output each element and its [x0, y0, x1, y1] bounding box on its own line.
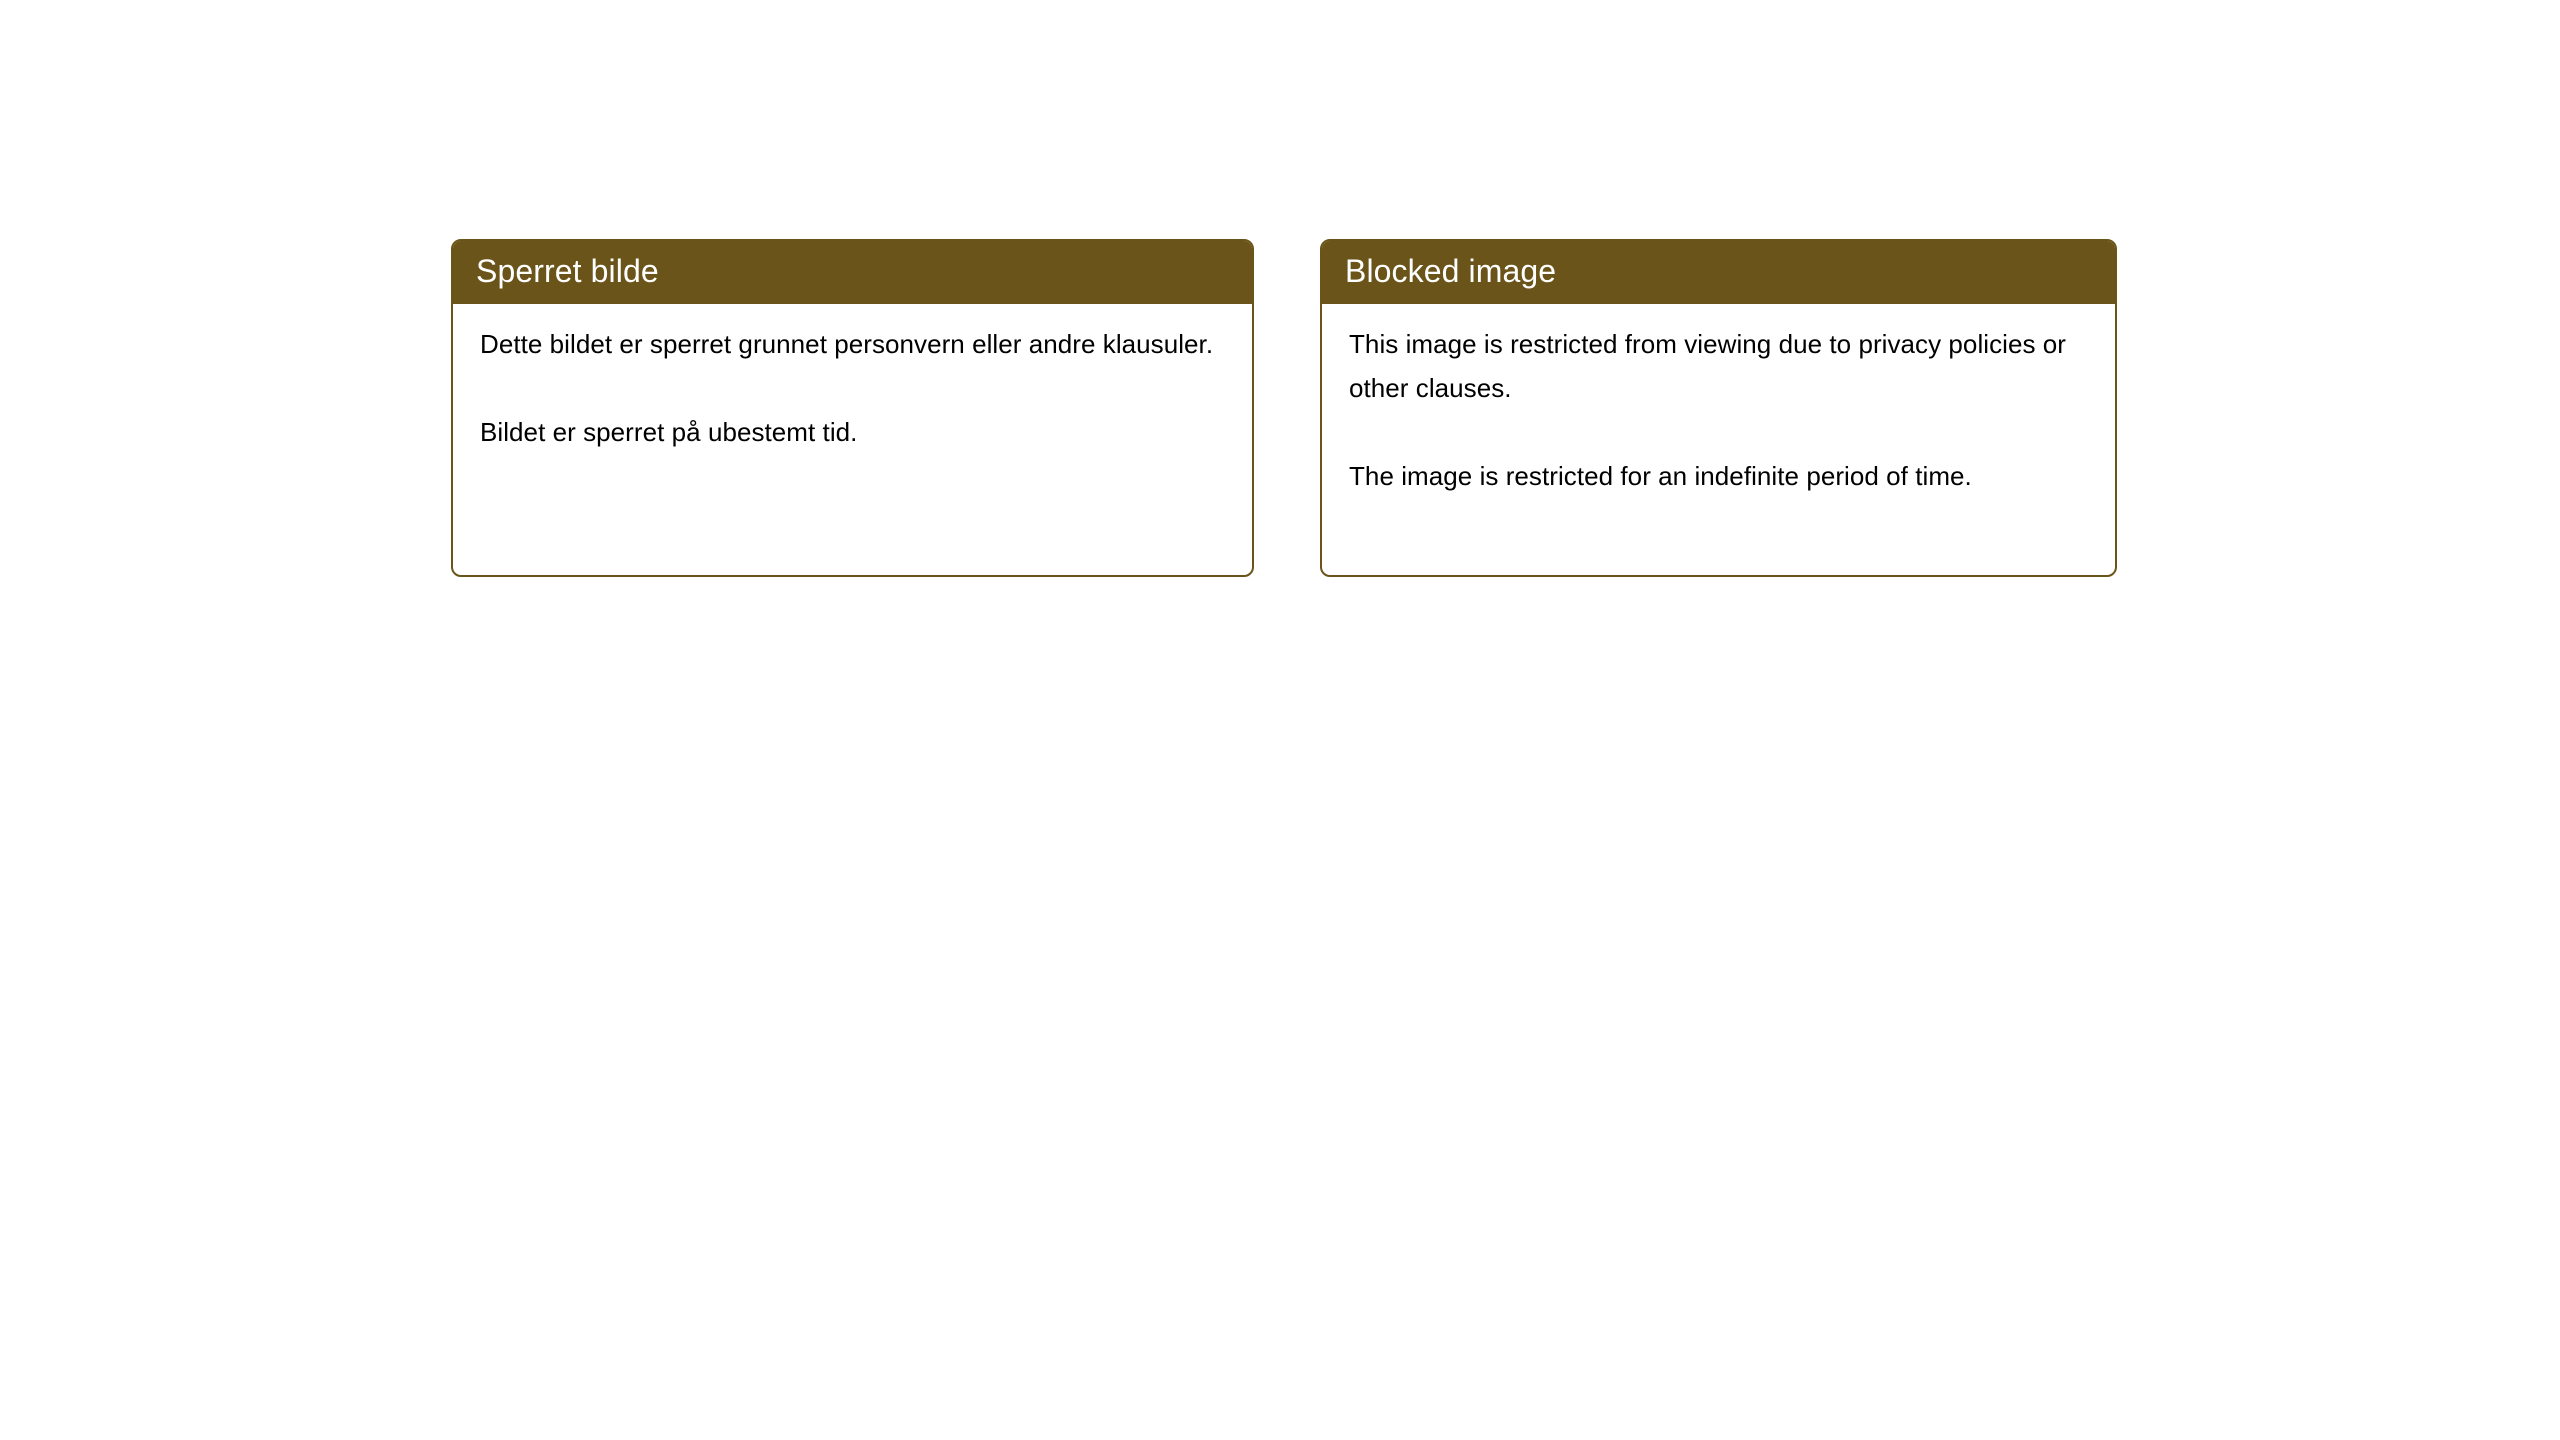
card-title-en: Blocked image — [1345, 255, 1556, 289]
card-body-en: This image is restricted from viewing du… — [1322, 304, 2115, 575]
card-paragraph-privacy-nb: Dette bildet er sperret grunnet personve… — [480, 322, 1226, 366]
blocked-image-card-en: Blocked image This image is restricted f… — [1320, 239, 2117, 577]
card-title-nb: Sperret bilde — [476, 255, 659, 289]
page-root: Sperret bilde Dette bildet er sperret gr… — [0, 0, 2560, 1440]
blocked-image-notice-group: Sperret bilde Dette bildet er sperret gr… — [451, 239, 2117, 577]
card-paragraph-duration-en: The image is restricted for an indefinit… — [1349, 454, 2089, 498]
blocked-image-card-nb: Sperret bilde Dette bildet er sperret gr… — [451, 239, 1254, 577]
card-paragraph-privacy-en: This image is restricted from viewing du… — [1349, 322, 2089, 410]
card-header-nb: Sperret bilde — [451, 239, 1254, 304]
card-paragraph-duration-nb: Bildet er sperret på ubestemt tid. — [480, 410, 1226, 454]
card-header-en: Blocked image — [1320, 239, 2117, 304]
card-body-nb: Dette bildet er sperret grunnet personve… — [453, 304, 1252, 575]
